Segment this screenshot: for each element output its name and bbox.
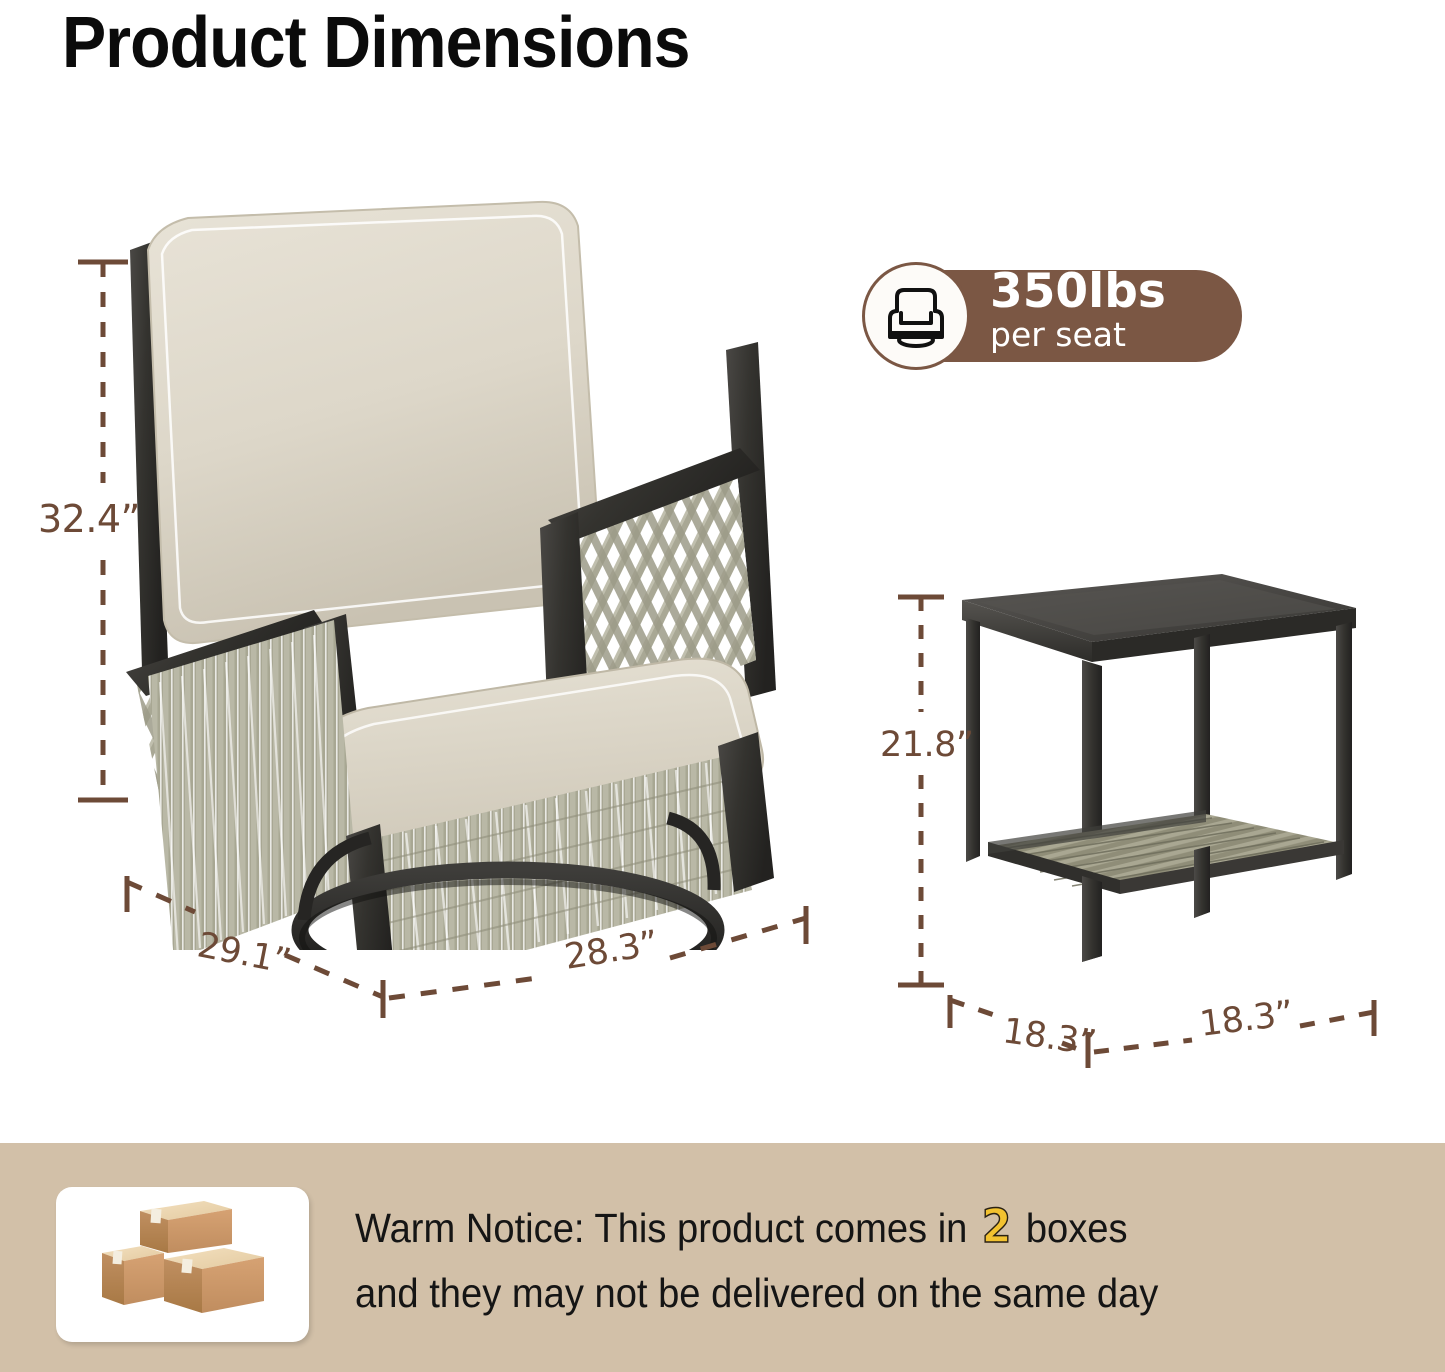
patio-side-table-illustration bbox=[944, 556, 1374, 1006]
warm-notice-banner: Warm Notice: This product comes in 2 box… bbox=[0, 1143, 1445, 1372]
notice-line2: and they may not be delivered on the sam… bbox=[355, 1262, 1341, 1326]
page-title: Product Dimensions bbox=[62, 2, 690, 84]
patio-swivel-chair-illustration bbox=[108, 190, 828, 950]
badge-capacity: 350lbs bbox=[990, 268, 1240, 315]
product-dimensions-infographic: Product Dimensions bbox=[0, 0, 1445, 1372]
notice-box-count: 2 bbox=[978, 1199, 1015, 1253]
notice-line1-after: boxes bbox=[1026, 1205, 1128, 1251]
notice-line1-before: Warm Notice: This product comes in bbox=[355, 1205, 967, 1251]
cardboard-boxes-icon bbox=[56, 1187, 309, 1342]
dimension-label-table-height: 21.8” bbox=[880, 725, 974, 765]
dimension-label-table-depth: 18.3” bbox=[1000, 1011, 1098, 1064]
badge-text: 350lbs per seat bbox=[990, 268, 1240, 351]
badge-per-unit: per seat bbox=[990, 318, 1240, 351]
armchair-swivel-icon bbox=[862, 262, 970, 370]
warm-notice-text: Warm Notice: This product comes in 2 box… bbox=[355, 1191, 1341, 1326]
dimension-label-chair-height: 32.4” bbox=[38, 497, 140, 541]
weight-capacity-badge: 350lbs per seat bbox=[862, 262, 1242, 370]
